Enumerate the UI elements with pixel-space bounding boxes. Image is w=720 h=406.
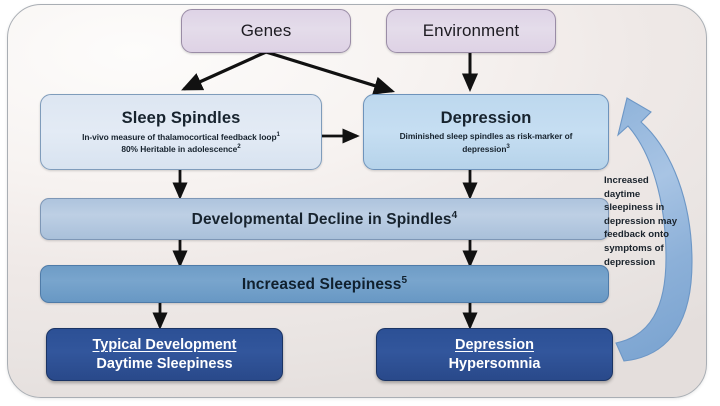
sleep-spindles-ref2: 2 [237,143,240,150]
node-developmental-decline[interactable]: Developmental Decline in Spindles4 [40,198,609,240]
node-environment[interactable]: Environment [386,9,556,53]
depression-ref3: 3 [506,143,509,150]
sleep-spindles-sub-line1: In-vivo measure of thalamocortical feedb… [82,132,276,142]
typical-development-heading: Typical Development [93,336,237,354]
depression-hypersomnia-heading: Depression [455,336,534,354]
diagram-canvas: Genes Environment Sleep Spindles In-vivo… [0,0,720,406]
sleep-spindles-ref1: 1 [277,131,280,138]
node-depression-hypersomnia[interactable]: Depression Hypersomnia [376,328,613,381]
node-increased-sleepiness[interactable]: Increased Sleepiness5 [40,265,609,303]
depression-sub-line1: Diminished sleep spindles as risk-marker… [400,131,573,141]
node-depression-subtitle: Diminished sleep spindles as risk-marker… [400,131,573,154]
feedback-caption: Increased daytime sleepiness in depressi… [604,174,684,269]
node-genes-title: Genes [241,21,292,41]
node-developmental-decline-title: Developmental Decline in Spindles4 [192,210,458,229]
typical-development-subheading: Daytime Sleepiness [96,355,232,373]
node-depression[interactable]: Depression Diminished sleep spindles as … [363,94,609,170]
sleep-spindles-sub-line2: 80% Heritable in adolescence [121,144,237,154]
depression-sub-line2: depression [462,143,506,153]
node-sleep-spindles[interactable]: Sleep Spindles In-vivo measure of thalam… [40,94,322,170]
developmental-decline-label: Developmental Decline in Spindles [192,211,452,228]
depression-hypersomnia-subheading: Hypersomnia [449,355,541,373]
node-increased-sleepiness-title: Increased Sleepiness5 [242,275,407,294]
node-environment-title: Environment [423,21,520,41]
node-sleep-spindles-subtitle: In-vivo measure of thalamocortical feedb… [82,131,280,155]
node-depression-title: Depression [441,109,532,128]
increased-sleepiness-ref: 5 [402,275,408,286]
developmental-decline-ref: 4 [452,210,458,221]
node-genes[interactable]: Genes [181,9,351,53]
node-typical-development[interactable]: Typical Development Daytime Sleepiness [46,328,283,381]
increased-sleepiness-label: Increased Sleepiness [242,276,402,293]
node-sleep-spindles-title: Sleep Spindles [122,109,241,128]
